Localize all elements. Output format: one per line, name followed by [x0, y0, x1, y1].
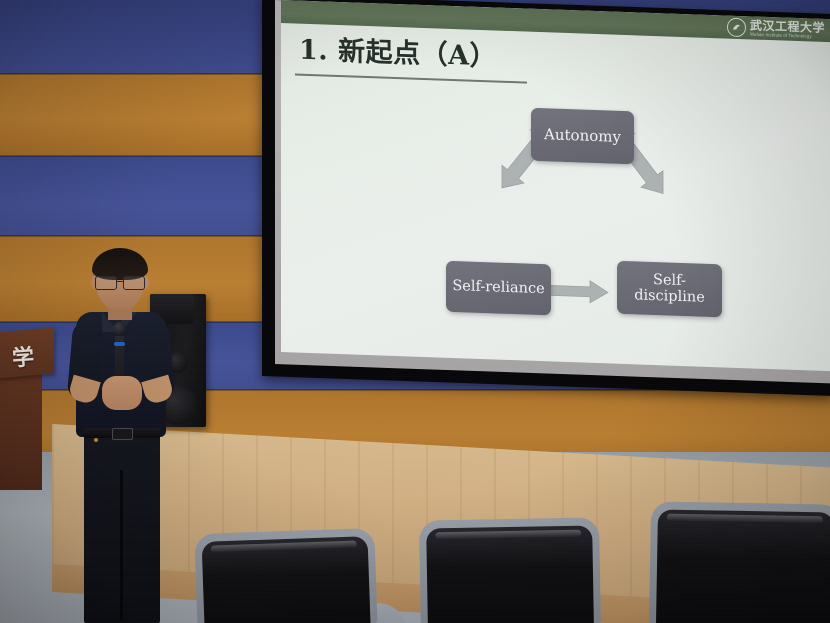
node-label-autonomy: Autonomy: [544, 127, 621, 145]
diagram-node-self-discipline: Self- discipline: [617, 261, 722, 318]
microphone-indicator-ring: [114, 342, 125, 346]
presentation-slide: 武汉工程大学 Wuhan Institute of Technology 1. …: [281, 0, 830, 371]
presenter: [58, 252, 188, 623]
auditorium-chair: [649, 501, 830, 623]
diagram-node-autonomy: Autonomy: [531, 108, 634, 165]
microphone-body: [115, 330, 124, 382]
diagram-node-self-reliance: Self-reliance: [446, 261, 551, 316]
auditorium-chair: [194, 528, 377, 623]
presenter-belt-buckle: [112, 428, 133, 440]
auditorium-chair: [419, 517, 601, 623]
presenter-pocket-stud: [94, 438, 98, 442]
slide-title: 1. 新起点（A）: [299, 28, 497, 74]
glasses-icon: [94, 276, 146, 288]
chair-backrest: [426, 526, 594, 623]
presenter-hands: [102, 376, 142, 410]
university-logo: 武汉工程大学 Wuhan Institute of Technology: [727, 17, 825, 41]
glasses-bridge: [116, 281, 124, 282]
university-crest-icon: [727, 18, 746, 38]
microphone-icon: [113, 322, 126, 336]
chair-backrest: [656, 509, 830, 623]
node-label-self-reliance: Self-reliance: [452, 279, 544, 297]
node-label-self-discipline-line2: discipline: [634, 288, 705, 306]
presenter-leg-seam: [120, 470, 123, 620]
glasses-lens-right: [123, 276, 145, 290]
glasses-lens-left: [95, 276, 117, 290]
slide-title-underline: [295, 73, 527, 83]
podium-character: 学: [11, 339, 35, 372]
lecture-hall-scene: 武汉工程大学 Wuhan Institute of Technology 1. …: [0, 0, 830, 623]
podium-body: [0, 370, 42, 490]
